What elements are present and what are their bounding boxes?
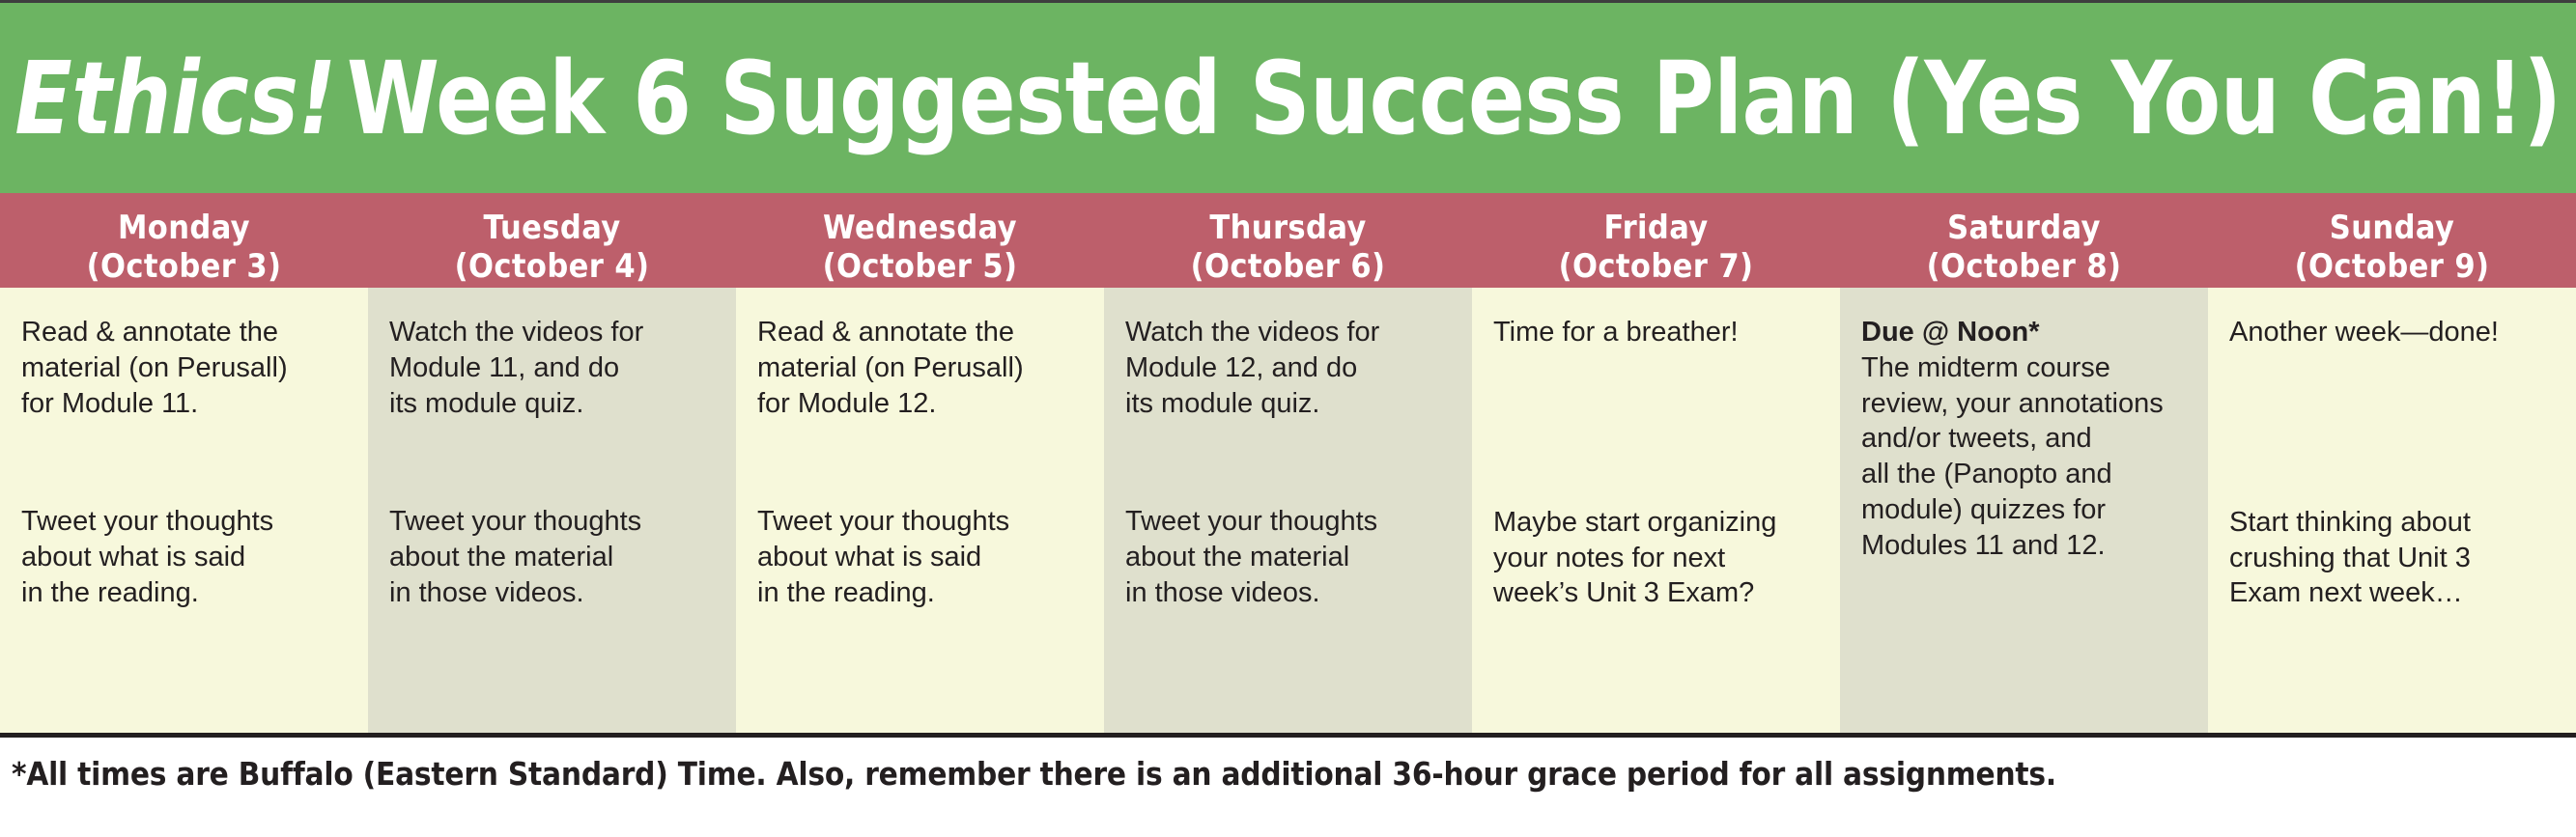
table-header: Monday (October 3) Tuesday (October 4) W…: [0, 193, 2576, 288]
cell-block-1: Another week—done!: [2229, 315, 2555, 350]
cell-text-line: Start thinking about: [2229, 505, 2555, 541]
table-body: Read & annotate thematerial (on Perusall…: [0, 288, 2576, 733]
cell-block-2: Tweet your thoughtsabout the materialin …: [389, 504, 715, 610]
cell-block-1: Read & annotate thematerial (on Perusall…: [757, 315, 1083, 421]
cell-text-line: The midterm course: [1861, 350, 2187, 386]
day-name: Friday: [1472, 209, 1840, 247]
cell-spacer: [2229, 350, 2555, 505]
day-date: (October 6): [1104, 247, 1472, 286]
day-cell-thursday: Watch the videos forModule 12, and doits…: [1104, 288, 1472, 733]
success-plan-infographic: Ethics!Week 6 Suggested Success Plan (Ye…: [0, 0, 2576, 837]
cell-spacer: [389, 421, 715, 504]
cell-text-line: about the material: [389, 540, 715, 575]
cell-block-1: Time for a breather!: [1493, 315, 1819, 350]
cell-text-line: Tweet your thoughts: [757, 504, 1083, 540]
cell-text-line: about what is said: [21, 540, 347, 575]
day-header-wednesday: Wednesday (October 5): [736, 193, 1104, 288]
cell-block-1: Watch the videos forModule 11, and doits…: [389, 315, 715, 421]
cell-text-line: its module quiz.: [1125, 386, 1451, 422]
title-emphasis: Ethics!: [14, 40, 347, 157]
title-rest: Week 6 Suggested Success Plan (Yes You C…: [347, 40, 2562, 157]
cell-block-1: The midterm coursereview, your annotatio…: [1861, 350, 2187, 564]
day-date: (October 7): [1472, 247, 1840, 286]
day-header-sunday: Sunday (October 9): [2208, 193, 2576, 288]
cell-block-2: Tweet your thoughtsabout the materialin …: [1125, 504, 1451, 610]
day-cell-friday: Time for a breather! Maybe start organiz…: [1472, 288, 1840, 733]
cell-text-line: in the reading.: [757, 575, 1083, 611]
cell-text-line: Read & annotate the: [757, 315, 1083, 350]
day-name: Monday: [0, 209, 368, 247]
cell-text-line: in the reading.: [21, 575, 347, 611]
day-date: (October 9): [2208, 247, 2576, 286]
day-header-thursday: Thursday (October 6): [1104, 193, 1472, 288]
cell-text-line: Watch the videos for: [389, 315, 715, 350]
cell-text-line: material (on Perusall): [757, 350, 1083, 386]
day-date: (October 4): [368, 247, 736, 286]
cell-text-line: its module quiz.: [389, 386, 715, 422]
day-name: Sunday: [2208, 209, 2576, 247]
cell-text-line: and/or tweets, and: [1861, 421, 2187, 457]
footnote-text: *All times are Buffalo (Eastern Standard…: [0, 738, 2576, 793]
cell-spacer: [1125, 421, 1451, 504]
weekly-plan-table: Monday (October 3) Tuesday (October 4) W…: [0, 193, 2576, 733]
day-cell-sunday: Another week—done! Start thinking aboutc…: [2208, 288, 2576, 733]
cell-text-line: in those videos.: [389, 575, 715, 611]
cell-block-1: Read & annotate thematerial (on Perusall…: [21, 315, 347, 421]
cell-block-2: Maybe start organizingyour notes for nex…: [1493, 505, 1819, 611]
day-date: (October 8): [1840, 247, 2208, 286]
cell-text-line: Tweet your thoughts: [1125, 504, 1451, 540]
cell-spacer: [21, 421, 347, 504]
cell-text-line: review, your annotations: [1861, 386, 2187, 422]
cell-text-line: crushing that Unit 3: [2229, 541, 2555, 576]
day-header-saturday: Saturday (October 8): [1840, 193, 2208, 288]
cell-text-line: Watch the videos for: [1125, 315, 1451, 350]
cell-text-line: Maybe start organizing: [1493, 505, 1819, 541]
cell-block-2: Start thinking aboutcrushing that Unit 3…: [2229, 505, 2555, 611]
cell-text-line: in those videos.: [1125, 575, 1451, 611]
cell-text-line: all the (Panopto and: [1861, 457, 2187, 492]
day-date: (October 5): [736, 247, 1104, 286]
cell-text-line: Module 12, and do: [1125, 350, 1451, 386]
cell-text-line: for Module 12.: [757, 386, 1083, 422]
cell-text-line: your notes for next: [1493, 541, 1819, 576]
day-cell-tuesday: Watch the videos forModule 11, and doits…: [368, 288, 736, 733]
day-date: (October 3): [0, 247, 368, 286]
cell-text-line: about the material: [1125, 540, 1451, 575]
cell-text-line: Another week—done!: [2229, 315, 2555, 350]
cell-spacer: [757, 421, 1083, 504]
day-cell-wednesday: Read & annotate thematerial (on Perusall…: [736, 288, 1104, 733]
title-banner: Ethics!Week 6 Suggested Success Plan (Ye…: [0, 0, 2576, 193]
cell-text-line: Modules 11 and 12.: [1861, 528, 2187, 564]
cell-block-2: Tweet your thoughtsabout what is saidin …: [21, 504, 347, 610]
day-content-row: Read & annotate thematerial (on Perusall…: [0, 288, 2576, 733]
cell-text-line: Tweet your thoughts: [389, 504, 715, 540]
cell-text-line: week’s Unit 3 Exam?: [1493, 575, 1819, 611]
day-cell-monday: Read & annotate thematerial (on Perusall…: [0, 288, 368, 733]
cell-lead: Due @ Noon*: [1861, 315, 2187, 350]
cell-text-line: Module 11, and do: [389, 350, 715, 386]
cell-text-line: about what is said: [757, 540, 1083, 575]
day-header-friday: Friday (October 7): [1472, 193, 1840, 288]
cell-text-line: Read & annotate the: [21, 315, 347, 350]
cell-block-1: Watch the videos forModule 12, and doits…: [1125, 315, 1451, 421]
cell-text-line: material (on Perusall): [21, 350, 347, 386]
cell-text-line: module) quizzes for: [1861, 492, 2187, 528]
cell-text-line: Time for a breather!: [1493, 315, 1819, 350]
day-header-row: Monday (October 3) Tuesday (October 4) W…: [0, 193, 2576, 288]
cell-spacer: [1493, 350, 1819, 505]
day-name: Thursday: [1104, 209, 1472, 247]
day-header-monday: Monday (October 3): [0, 193, 368, 288]
day-name: Saturday: [1840, 209, 2208, 247]
day-cell-saturday: Due @ Noon* The midterm coursereview, yo…: [1840, 288, 2208, 733]
cell-block-2: Tweet your thoughtsabout what is saidin …: [757, 504, 1083, 610]
cell-text-line: for Module 11.: [21, 386, 347, 422]
page-title: Ethics!Week 6 Suggested Success Plan (Ye…: [14, 48, 2561, 149]
cell-text-line: Exam next week…: [2229, 575, 2555, 611]
day-name: Tuesday: [368, 209, 736, 247]
day-header-tuesday: Tuesday (October 4): [368, 193, 736, 288]
cell-text-line: Tweet your thoughts: [21, 504, 347, 540]
day-name: Wednesday: [736, 209, 1104, 247]
